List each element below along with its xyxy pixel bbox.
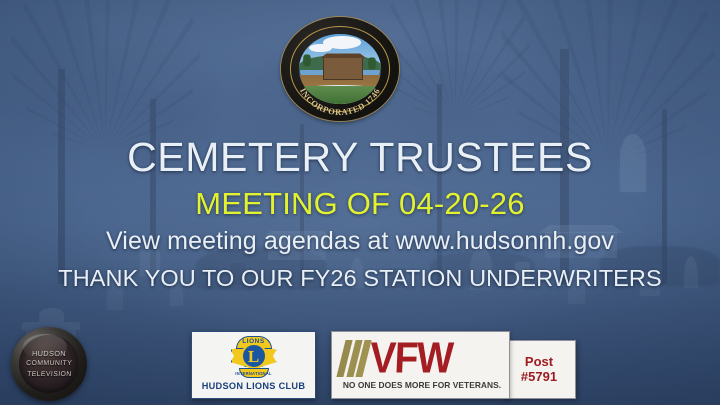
hudson-community-television-logo: HUDSON COMMUNITY TELEVISION bbox=[11, 327, 87, 401]
lions-emblem-letter: L bbox=[248, 348, 259, 365]
hctv-line-2: COMMUNITY bbox=[26, 359, 73, 370]
lions-emblem-icon: LIONS L INTERNATIONAL bbox=[232, 336, 276, 378]
seal-bottom-text: INCORPORATED 1746 bbox=[298, 86, 382, 117]
lions-club-label: HUDSON LIONS CLUB bbox=[202, 381, 306, 391]
underwriter-thanks-line: THANK YOU TO OUR FY26 STATION UNDERWRITE… bbox=[0, 265, 720, 292]
agenda-url-line: View meeting agendas at www.hudsonnh.gov bbox=[0, 227, 720, 256]
seal-top-text: TOWN OF HUDSON NEW HAMPSHIRE bbox=[281, 17, 376, 20]
vfw-tagline: NO ONE DOES MORE FOR VETERANS. bbox=[342, 380, 502, 390]
hctv-gloss-highlight bbox=[23, 334, 67, 359]
vfw-post-number: #5791 bbox=[521, 370, 557, 385]
meeting-date: MEETING OF 04-20-26 bbox=[0, 186, 720, 222]
town-of-hudson-seal: TOWN OF HUDSON NEW HAMPSHIRE INCORPORATE… bbox=[281, 17, 399, 121]
vfw-post-panel: Post #5791 bbox=[503, 340, 576, 399]
vfw-letters: VFW bbox=[369, 336, 453, 380]
hctv-line-3: TELEVISION bbox=[26, 370, 71, 381]
page-title: CEMETERY TRUSTEES bbox=[0, 134, 720, 181]
vfw-post-label: Post bbox=[525, 355, 553, 370]
vfw-main-panel: VFW NO ONE DOES MORE FOR VETERANS. bbox=[331, 331, 510, 399]
vfw-slashes-icon bbox=[341, 340, 367, 377]
broadcast-slide: TOWN OF HUDSON NEW HAMPSHIRE INCORPORATE… bbox=[0, 0, 720, 405]
hudson-lions-club-logo: LIONS L INTERNATIONAL HUDSON LIONS CLUB bbox=[191, 331, 316, 399]
lions-emblem-bottom-text: INTERNATIONAL bbox=[235, 370, 271, 377]
seal-lettering: TOWN OF HUDSON NEW HAMPSHIRE INCORPORATE… bbox=[281, 17, 399, 121]
vfw-post-5791-logo: Post #5791 VFW NO ONE DOES MORE FOR VETE… bbox=[331, 331, 576, 399]
